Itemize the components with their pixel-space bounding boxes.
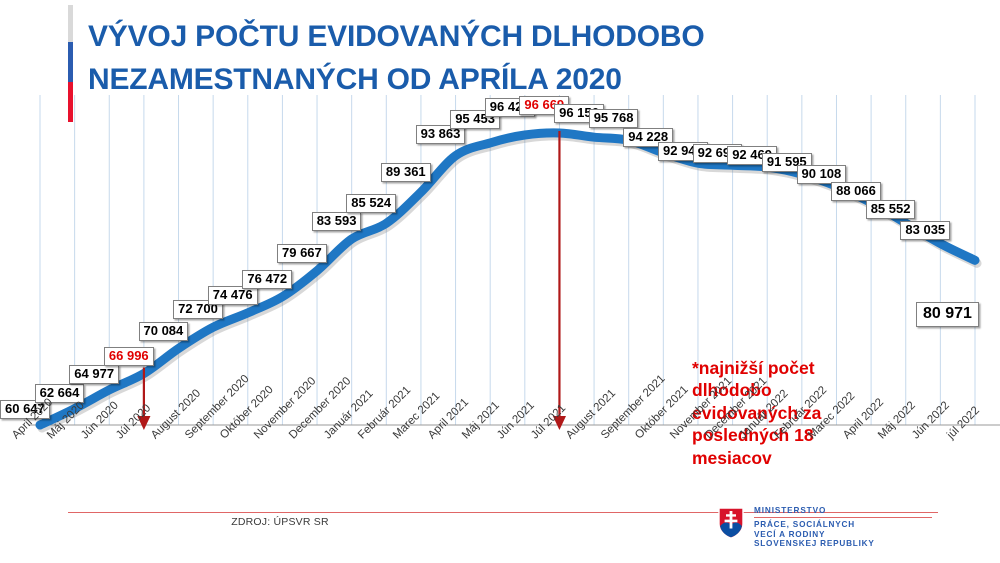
chart-x-axis-labels: April 2020Máj 2020Jún 2020Júl 2020August… — [0, 425, 1000, 495]
slide-root: VÝVOJ POČTU EVIDOVANÝCH DLHODOBO NEZAMES… — [0, 0, 1000, 563]
page-title: VÝVOJ POČTU EVIDOVANÝCH DLHODOBO NEZAMES… — [88, 16, 968, 101]
logo-line-1: MINISTERSTVO — [754, 506, 944, 516]
data-label-júl-2020: 66 996 — [104, 347, 154, 366]
data-label-jún-2020: 64 977 — [69, 365, 119, 384]
data-label-máj-2022: 85 552 — [866, 200, 916, 219]
accent-segment-blue — [68, 42, 73, 82]
data-label-október-2020: 74 476 — [208, 286, 258, 305]
data-label-júl-2022: 80 971 — [916, 302, 979, 327]
source-caption: ZDROJ: ÚPSVR SR — [130, 516, 430, 528]
data-label-február-2021: 85 524 — [346, 194, 396, 213]
slovak-coat-of-arms-icon — [718, 507, 744, 539]
data-label-august-2020: 70 084 — [139, 322, 189, 341]
data-label-december-2020: 79 667 — [277, 244, 327, 263]
data-label-január-2021: 83 593 — [312, 212, 362, 231]
ministry-logo-text: MINISTERSTVO PRÁCE, SOCIÁLNYCH VECÍ A RO… — [754, 506, 944, 549]
data-label-november-2020: 76 472 — [242, 270, 292, 289]
data-label-april-2022: 88 066 — [831, 182, 881, 201]
ministry-logo: MINISTERSTVO PRÁCE, SOCIÁLNYCH VECÍ A RO… — [718, 503, 948, 555]
data-label-september-2021: 95 768 — [589, 109, 639, 128]
accent-segment-white — [68, 5, 73, 42]
data-label-marec-2021: 89 361 — [381, 163, 431, 182]
logo-line-2: PRÁCE, SOCIÁLNYCH — [754, 520, 944, 530]
logo-line-4: SLOVENSKEJ REPUBLIKY — [754, 539, 944, 549]
logo-line-3: VECÍ A RODINY — [754, 530, 944, 540]
chart-container: 60 64762 66464 97766 99670 08472 70074 4… — [0, 95, 1000, 435]
logo-divider — [754, 517, 932, 518]
data-label-jún-2022: 83 035 — [900, 221, 950, 240]
